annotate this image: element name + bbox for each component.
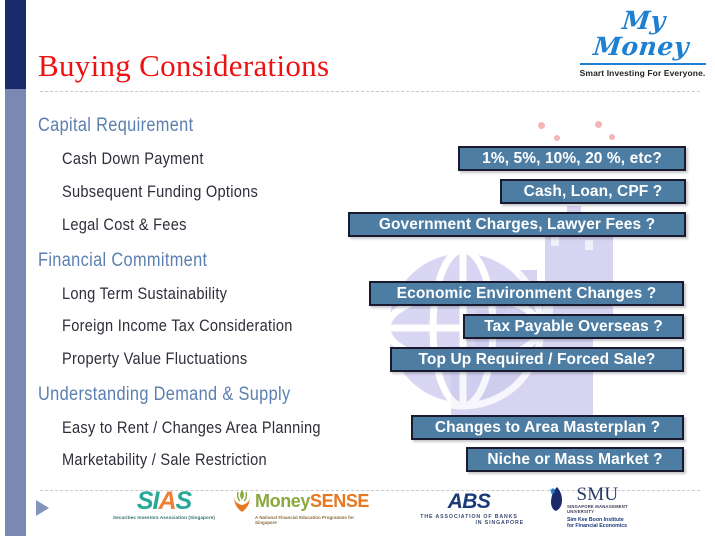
moneysense-wordmark: MoneySENSE	[255, 492, 369, 510]
mymoney-logo: My Money Smart Investing For Everyone.	[575, 8, 710, 78]
outline-item-legal-cost-fees: Legal Cost & Fees	[62, 215, 187, 235]
callout-niche-or-mass-market[interactable]: Niche or Mass Market ?	[466, 447, 684, 472]
decor-dot	[595, 121, 602, 128]
abs-wordmark: ABS	[414, 491, 524, 512]
callout-government-charges[interactable]: Government Charges, Lawyer Fees ?	[348, 212, 686, 237]
decor-dot	[554, 135, 560, 141]
outline-item-easy-to-rent: Easy to Rent / Changes Area Planning	[62, 418, 321, 438]
outline-item-long-term-sustainability: Long Term Sustainability	[62, 284, 227, 304]
smu-wordmark: SMU	[567, 486, 628, 504]
header-divider	[40, 91, 700, 92]
sias-logo: SIAS Securities Investors Association (S…	[108, 489, 220, 520]
smu-emblem-icon	[548, 486, 564, 512]
sias-word-part3: S	[176, 487, 192, 515]
slide-canvas: Buying Considerations My Money Smart Inv…	[0, 0, 715, 536]
abs-logo: ABS THE ASSOCIATION OF BANKS IN SINGAPOR…	[414, 491, 524, 526]
outline-item-property-value-fluctuations: Property Value Fluctuations	[62, 349, 247, 369]
callout-top-up-required[interactable]: Top Up Required / Forced Sale?	[390, 347, 684, 372]
mymoney-tagline: Smart Investing For Everyone.	[575, 68, 710, 78]
moneysense-logo: MoneySENSE A National Financial Educatio…	[231, 489, 371, 525]
smu-row: SMU SINGAPORE MANAGEMENT UNIVERSITY	[548, 486, 668, 515]
outline-item-subsequent-funding-options: Subsequent Funding Options	[62, 182, 258, 202]
moneysense-flame-icon	[231, 489, 253, 513]
moneysense-subtitle: A National Financial Education Programme…	[231, 515, 371, 525]
decor-dot	[538, 122, 545, 129]
callout-capital-percentages[interactable]: 1%, 5%, 10%, 20 %, etc?	[458, 146, 686, 171]
decor-dot	[609, 134, 615, 140]
sias-wordmark: SIAS	[108, 489, 220, 514]
outline-item-foreign-income-tax: Foreign Income Tax Consideration	[62, 316, 293, 336]
moneysense-row: MoneySENSE	[231, 489, 371, 513]
smu-subtitle-line2: UNIVERSITY	[567, 509, 628, 514]
smu-institute-line2: for Financial Economics	[548, 523, 668, 530]
mymoney-wordmark: My Money	[572, 8, 713, 61]
callout-changes-area-masterplan[interactable]: Changes to Area Masterplan ?	[411, 415, 684, 440]
moneysense-word-sense: SENSE	[310, 491, 369, 511]
sias-word-part2: A	[158, 487, 175, 515]
play-arrow-icon[interactable]	[36, 500, 49, 516]
callout-economic-environment[interactable]: Economic Environment Changes ?	[369, 281, 684, 306]
callout-tax-payable-overseas[interactable]: Tax Payable Overseas ?	[463, 314, 684, 339]
smu-text-block: SMU SINGAPORE MANAGEMENT UNIVERSITY	[567, 486, 628, 515]
sias-subtitle: Securities Investors Association (Singap…	[108, 515, 220, 520]
page-title: Buying Considerations	[38, 48, 329, 84]
abs-subtitle-second: IN SINGAPORE	[414, 520, 524, 526]
callout-cash-loan-cpf[interactable]: Cash, Loan, CPF ?	[500, 179, 686, 204]
outline-heading-capital-requirement: Capital Requirement	[38, 115, 193, 137]
smu-logo: SMU SINGAPORE MANAGEMENT UNIVERSITY Sim …	[548, 486, 668, 530]
outline-item-cash-down-payment: Cash Down Payment	[62, 149, 204, 169]
sias-word-part1: SI	[137, 487, 159, 515]
outline-item-marketability: Marketability / Sale Restriction	[62, 450, 267, 470]
outline-heading-financial-commitment: Financial Commitment	[38, 250, 207, 272]
mymoney-underline	[580, 63, 706, 65]
left-accent-bar-navy	[5, 0, 26, 89]
moneysense-word-money: Money	[255, 491, 310, 511]
outline-heading-understanding-demand-supply: Understanding Demand & Supply	[38, 384, 291, 406]
left-accent-bar-slate	[5, 89, 26, 536]
